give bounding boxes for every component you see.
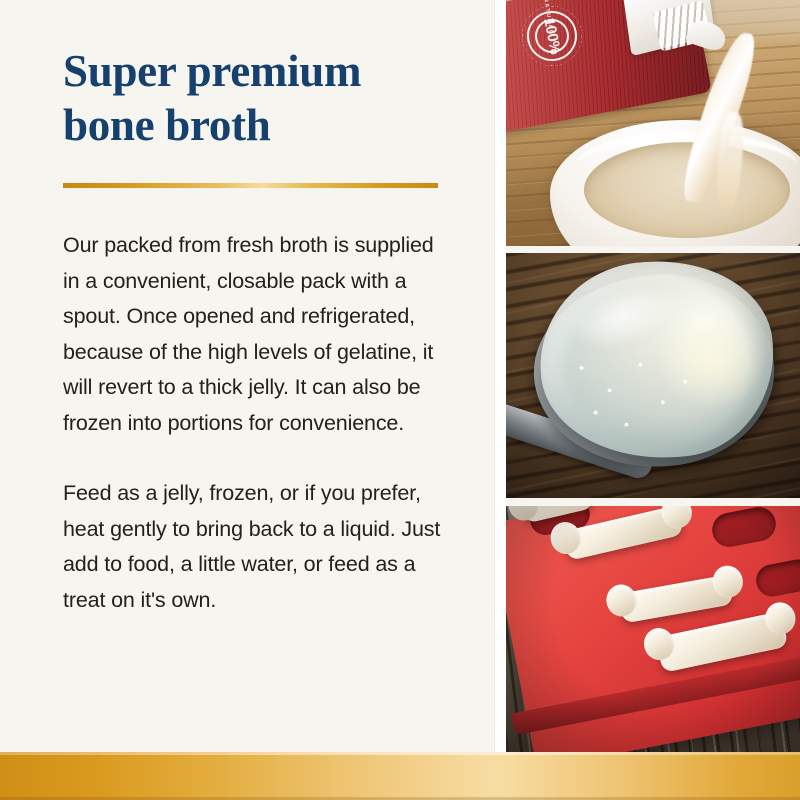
- column-gutter: [495, 0, 506, 752]
- footer-bar-top-highlight: [0, 752, 800, 755]
- gold-footer-bar: [0, 752, 800, 800]
- headline-line-1: Super premium: [63, 46, 361, 96]
- text-panel: Super premiumbone broth Our packed from …: [0, 0, 495, 752]
- photo-jelly-spoon: [506, 253, 800, 498]
- gold-divider-rule: [63, 183, 438, 188]
- photo-vignette: [506, 506, 800, 752]
- photo-vignette: [506, 253, 800, 498]
- product-poster: Super premiumbone broth Our packed from …: [0, 0, 800, 800]
- body-copy: Our packed from fresh broth is supplied …: [63, 228, 443, 618]
- photo-bone-mold-tray: [506, 506, 800, 752]
- headline-line-2: bone broth: [63, 100, 270, 150]
- paragraph-product-description: Our packed from fresh broth is supplied …: [63, 228, 443, 441]
- image-column: NATURAL 100%: [506, 0, 800, 752]
- paragraph-feeding-instructions: Feed as a jelly, frozen, or if you prefe…: [63, 476, 443, 618]
- photo-pouring-broth: NATURAL 100%: [506, 0, 800, 246]
- page-title: Super premiumbone broth: [63, 44, 463, 152]
